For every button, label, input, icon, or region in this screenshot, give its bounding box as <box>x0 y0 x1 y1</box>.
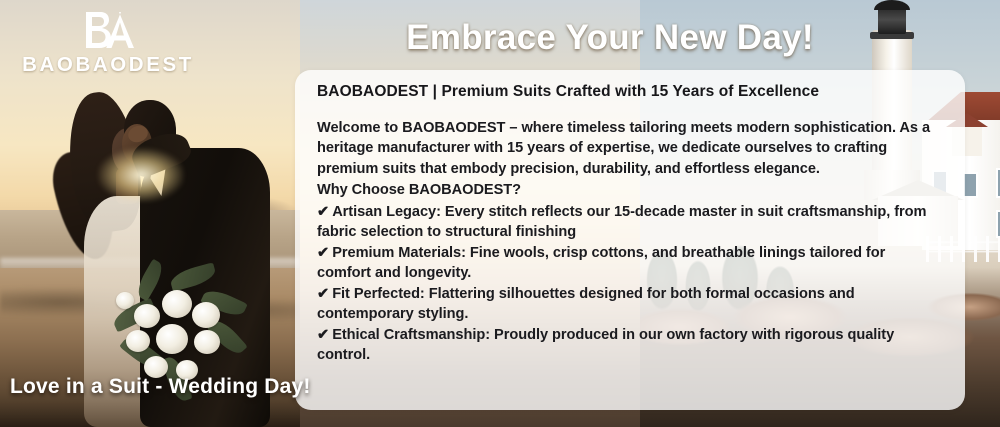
bouquet-flower <box>192 302 220 328</box>
ba-monogram-icon <box>78 8 138 52</box>
feature-bullet-text: Artisan Legacy: Every stitch reflects ou… <box>317 204 926 241</box>
panel-body: Welcome to BAOBAODEST – where timeless t… <box>317 118 943 366</box>
feature-bullet-text: Premium Materials: Fine wools, crisp cot… <box>317 245 885 282</box>
why-choose-heading: Why Choose BAOBAODEST? <box>317 180 943 201</box>
brand-logo: BAOBAODEST <box>18 8 198 76</box>
check-icon: ✔ <box>317 245 329 261</box>
check-icon: ✔ <box>317 327 329 343</box>
feature-bullet-text: Fit Perfected: Flattering silhouettes de… <box>317 286 855 323</box>
feature-bullet: ✔Artisan Legacy: Every stitch reflects o… <box>317 202 943 243</box>
bouquet-flower <box>194 330 220 354</box>
feature-bullet-text: Ethical Craftsmanship: Proudly produced … <box>317 327 894 364</box>
bouquet-flower <box>134 304 160 328</box>
image-caption: Love in a Suit - Wedding Day! <box>10 375 311 399</box>
bouquet-flower <box>116 292 134 309</box>
panel-heading: BAOBAODEST | Premium Suits Crafted with … <box>317 83 943 102</box>
feature-bullet: ✔Premium Materials: Fine wools, crisp co… <box>317 243 943 284</box>
intro-paragraph: Welcome to BAOBAODEST – where timeless t… <box>317 118 943 180</box>
house-window <box>996 210 1000 238</box>
sun-flare <box>98 148 184 202</box>
feature-bullet: ✔Fit Perfected: Flattering silhouettes d… <box>317 284 943 325</box>
promotional-banner: BAOBAODEST Embrace Your New Day! BAOBAOD… <box>0 0 1000 427</box>
bouquet-flower <box>156 324 188 354</box>
check-icon: ✔ <box>317 286 329 302</box>
brand-wordmark: BAOBAODEST <box>18 55 198 76</box>
content-panel: BAOBAODEST | Premium Suits Crafted with … <box>295 70 965 410</box>
feature-bullet: ✔Ethical Craftsmanship: Proudly produced… <box>317 325 943 366</box>
bouquet-flower <box>126 330 150 352</box>
bouquet-flower <box>162 290 192 318</box>
check-icon: ✔ <box>317 204 329 220</box>
page-title: Embrace Your New Day! <box>300 18 920 58</box>
house-window <box>996 168 1000 198</box>
